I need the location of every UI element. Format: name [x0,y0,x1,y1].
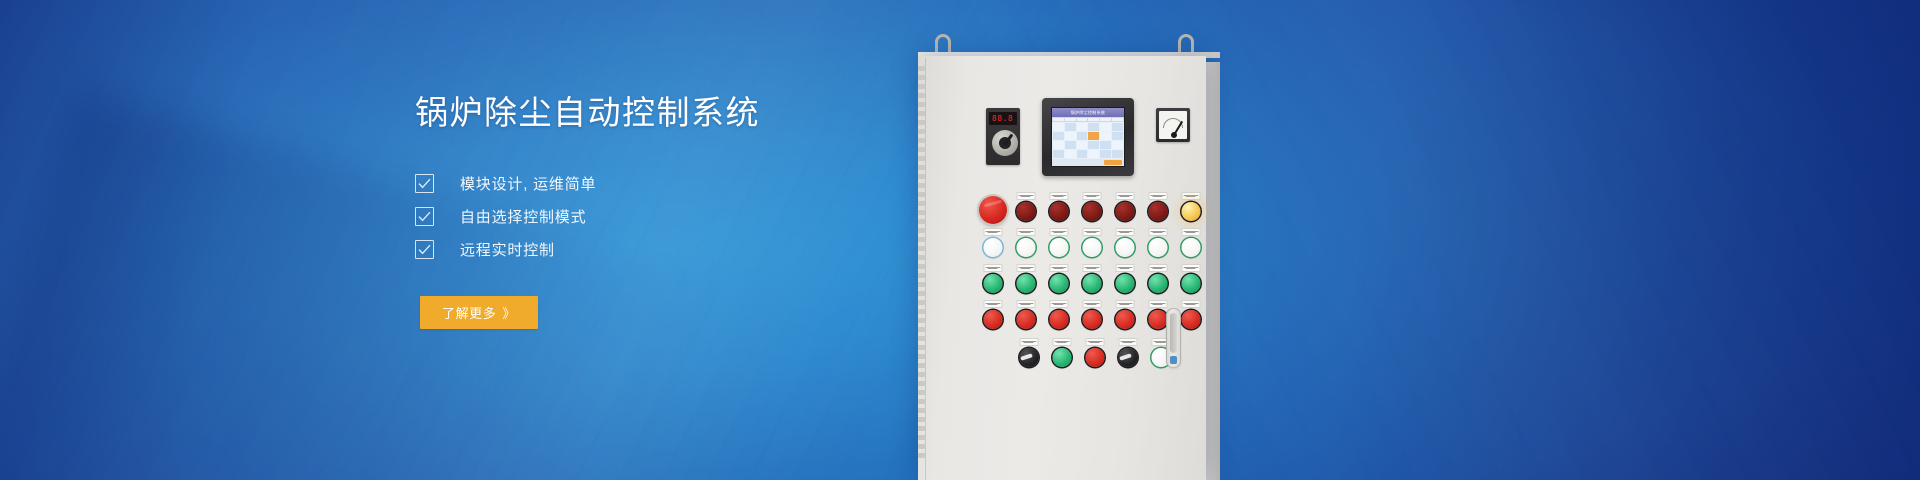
table-row [1053,123,1123,131]
cabinet-hinge [918,183,925,188]
red-lamp[interactable] [983,310,1002,329]
control-button-cell [1009,264,1042,298]
green-lamp[interactable] [1181,274,1200,293]
hmi-action-button[interactable] [1052,159,1124,166]
dark-red-lamp[interactable] [1082,202,1101,221]
white-green-ring-lamp[interactable] [1148,238,1167,257]
cabinet-hinge [918,453,925,458]
dark-red-lamp[interactable] [1115,202,1134,221]
cabinet-hinge [918,138,925,143]
green-lamp[interactable] [1016,274,1035,293]
list-item: 远程实时控制 [415,239,885,260]
control-button-cell [1078,338,1111,372]
table-row [1053,141,1123,149]
button-label-tag [1115,228,1134,236]
control-button-cell [1108,192,1141,226]
control-button-cell [1009,300,1042,334]
check-square-icon [415,207,434,226]
control-button-cell [1045,338,1078,372]
button-label-tag [1148,264,1167,272]
cabinet-hinge [918,363,925,368]
list-item-label: 模块设计, 运维简单 [460,173,596,194]
dark-red-lamp[interactable] [1148,202,1167,221]
button-label-tag [1148,192,1167,200]
button-label-tag [1082,228,1101,236]
button-label-tag [1115,192,1134,200]
cabinet-hinge [918,444,925,449]
red-lamp[interactable] [1085,348,1104,367]
black-selector-lamp[interactable] [1118,348,1137,367]
cabinet-hinge [918,300,925,305]
banner-copy: 锅炉除尘自动控制系统 模块设计, 运维简单 自由选择控制模式 [415,96,885,260]
cabinet-hinge [918,120,925,125]
cabinet-door-seam [925,58,926,480]
button-label-tag [1181,192,1200,200]
red-lamp[interactable] [1049,310,1068,329]
timer-value: 88.8 [992,115,1013,123]
white-green-ring-lamp[interactable] [1049,238,1068,257]
button-label-tag [1049,192,1068,200]
cabinet-hinge [918,372,925,377]
cabinet-hinge [918,273,925,278]
list-item-label: 自由选择控制模式 [460,206,586,227]
list-item: 模块设计, 运维简单 [415,173,885,194]
meter-face [1159,111,1187,139]
table-row [1053,132,1123,140]
control-button-cell [1111,338,1144,372]
control-button-cell [1174,264,1207,298]
list-item-label: 远程实时控制 [460,239,555,260]
red-lamp[interactable] [1181,310,1200,329]
cabinet-hinge [918,93,925,98]
button-label-tag [983,264,1002,272]
button-label-tag [1148,300,1167,308]
cabinet-hinge [918,408,925,413]
button-label-tag [1085,338,1104,346]
control-button-cell [1141,228,1174,262]
analog-panel-meter [1156,108,1190,142]
cabinet-hinge [918,174,925,179]
button-label-tag [1118,338,1137,346]
cabinet-hinge [918,381,925,386]
cabinet-hinge [918,102,925,107]
product-photo: 88.8 锅炉除尘控制系统 [880,0,1580,480]
cabinet-hinge [918,246,925,251]
control-button-row [976,228,1207,262]
cabinet-hinge [918,237,925,242]
button-label-tag [1052,338,1071,346]
control-button-cell [976,192,1009,226]
cabinet-hinge [918,111,925,116]
cabinet-hinge [918,390,925,395]
cabinet-hinge [918,264,925,269]
control-button-cell [1075,300,1108,334]
control-button-row [976,264,1207,298]
control-button-cell [1009,228,1042,262]
button-label-tag [1148,228,1167,236]
control-button-cell [976,264,1009,298]
control-button-cell [1108,300,1141,334]
door-handle[interactable] [1166,308,1181,368]
meter-pivot-icon [1171,132,1177,138]
green-lamp[interactable] [983,274,1002,293]
cabinet-hinge [918,192,925,197]
cabinet-hinge [918,417,925,422]
red-lamp[interactable] [1148,310,1167,329]
cabinet-hinge [918,129,925,134]
cabinet-hinge [918,75,925,80]
cabinet-hinge [918,147,925,152]
cabinet-hinge [918,318,925,323]
white-green-ring-lamp[interactable] [1082,238,1101,257]
hmi-screen[interactable]: 锅炉除尘控制系统 [1051,107,1125,167]
control-button-cell [1075,264,1108,298]
cabinet-hinge [918,426,925,431]
control-button-cell [1108,264,1141,298]
timer-controller[interactable]: 88.8 [986,108,1020,165]
emergency-stop-red-lamp[interactable] [979,196,1007,224]
green-lamp[interactable] [1148,274,1167,293]
hmi-touch-panel[interactable]: 锅炉除尘控制系统 [1042,98,1134,176]
button-label-tag [1082,192,1101,200]
button-label-tag [1049,228,1068,236]
hmi-table [1052,122,1124,159]
dark-red-lamp[interactable] [1049,202,1068,221]
cabinet-hinge [918,84,925,89]
black-selector-lamp[interactable] [1019,348,1038,367]
timer-knob[interactable] [989,129,1017,159]
white-green-ring-lamp[interactable] [1016,238,1035,257]
button-label-tag [983,300,1002,308]
cabinet-hinge [918,210,925,215]
cabinet-hinge [918,219,925,224]
cabinet-hinge [918,435,925,440]
control-button-row [1012,338,1177,372]
cabinet-hinge [918,165,925,170]
button-label-tag [1019,338,1038,346]
button-label-tag [983,228,1002,236]
control-button-cell [1009,192,1042,226]
cabinet-hinge-column [918,66,925,466]
green-lamp[interactable] [1082,274,1101,293]
control-button-cell [976,300,1009,334]
button-label-tag [1181,228,1200,236]
control-button-cell [1042,228,1075,262]
timer-display: 88.8 [989,112,1017,125]
button-label-tag [1082,300,1101,308]
cabinet-hinge [918,255,925,260]
feature-list: 模块设计, 运维简单 自由选择控制模式 远程实时控制 [415,173,885,260]
list-item: 自由选择控制模式 [415,206,885,227]
button-label-tag [1016,264,1035,272]
check-square-icon [415,240,434,259]
chevron-right-icon: 》 [502,303,516,322]
cabinet-hinge [918,309,925,314]
control-button-cell [1174,192,1207,226]
cabinet-hinge [918,228,925,233]
button-label-tag [1181,264,1200,272]
green-lamp[interactable] [1115,274,1134,293]
button-label-tag [1115,300,1134,308]
cabinet-hinge [918,336,925,341]
cabinet-side-panel [1206,62,1220,480]
cabinet-hinge [918,291,925,296]
page-title: 锅炉除尘自动控制系统 [415,96,885,129]
amber-lamp[interactable] [1181,202,1200,221]
white-green-ring-lamp[interactable] [1115,238,1134,257]
table-row [1053,150,1123,158]
control-button-cell [1141,264,1174,298]
cabinet-hinge [918,201,925,206]
red-lamp[interactable] [1115,310,1134,329]
learn-more-button[interactable]: 了解更多 》 [420,296,538,329]
button-label-tag [1049,264,1068,272]
control-button-row [976,192,1207,226]
white-blue-ring-lamp[interactable] [983,238,1002,257]
control-button-cell [1042,300,1075,334]
cabinet-hinge [918,327,925,332]
red-lamp[interactable] [1016,310,1035,329]
dark-red-lamp[interactable] [1016,202,1035,221]
control-button-cell [1042,264,1075,298]
cabinet-hinge [918,156,925,161]
cabinet-hinge [918,399,925,404]
control-button-cell [1174,228,1207,262]
green-lamp[interactable] [1049,274,1068,293]
control-button-cell [1108,228,1141,262]
cabinet-hinge [918,282,925,287]
promo-banner: 锅炉除尘自动控制系统 模块设计, 运维简单 自由选择控制模式 [0,0,1920,480]
control-button-cell [976,228,1009,262]
control-button-cell [1075,228,1108,262]
cabinet-hinge [918,354,925,359]
control-button-cell [1141,192,1174,226]
control-button-cell [1042,192,1075,226]
white-green-ring-lamp[interactable] [1181,238,1200,257]
cabinet-hinge [918,345,925,350]
check-square-icon [415,174,434,193]
button-label-tag [1082,264,1101,272]
button-label-tag [1181,300,1200,308]
hmi-screen-title: 锅炉除尘控制系统 [1052,108,1124,117]
button-label-tag [1016,300,1035,308]
control-button-cell [1012,338,1045,372]
cabinet-hinge [918,66,925,71]
learn-more-label: 了解更多 [442,303,496,322]
green-lamp[interactable] [1052,348,1071,367]
control-button-cell [1075,192,1108,226]
hmi-title-text: 锅炉除尘控制系统 [1071,111,1105,115]
button-label-tag [1016,192,1035,200]
button-label-tag [1115,264,1134,272]
button-label-tag [1049,300,1068,308]
red-lamp[interactable] [1082,310,1101,329]
button-label-tag [1016,228,1035,236]
